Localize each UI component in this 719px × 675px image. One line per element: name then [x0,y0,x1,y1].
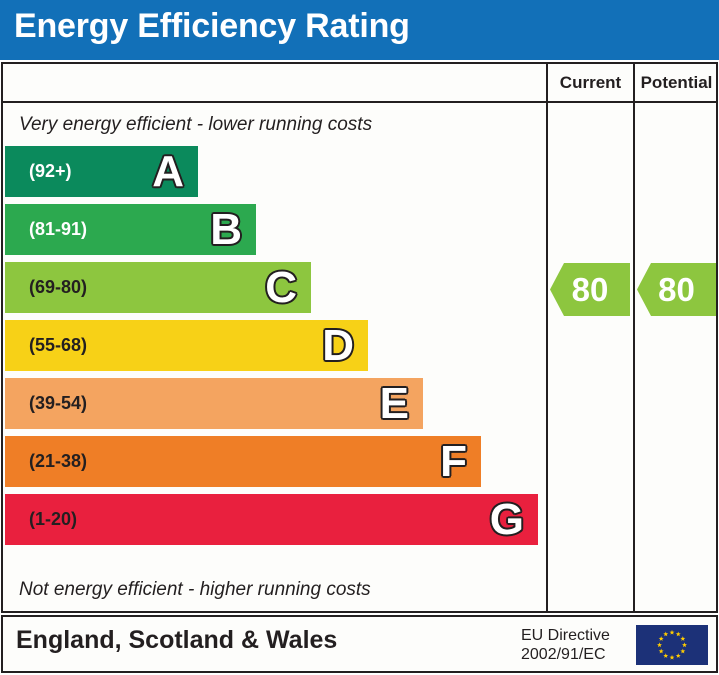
chart-footer: England, Scotland & Wales EU Directive 2… [1,615,718,673]
potential-score-arrow: 80 [637,263,716,316]
band-bar-d: (55-68)D [5,320,368,371]
band-letter-d: D [322,324,354,368]
band-letter-f: F [440,440,467,484]
column-header-potential: Potential [635,64,718,101]
band-bar-c: (69-80)C [5,262,311,313]
caption-inefficient: Not energy efficient - higher running co… [19,579,371,601]
footer-region-label: England, Scotland & Wales [16,626,337,655]
eu-flag-icon [636,625,708,665]
band-bar-b: (81-91)B [5,204,256,255]
directive-line-2: 2002/91/EC [521,645,610,664]
band-bar-e: (39-54)E [5,378,423,429]
caption-efficient: Very energy efficient - lower running co… [19,114,372,136]
band-range-g: (1-20) [29,509,77,530]
footer-directive: EU Directive 2002/91/EC [521,626,610,664]
band-range-c: (69-80) [29,277,87,298]
band-range-a: (92+) [29,161,72,182]
band-range-f: (21-38) [29,451,87,472]
band-area: Very energy efficient - lower running co… [3,103,546,611]
band-letter-a: A [152,150,184,194]
rating-table: Current Potential Very energy efficient … [1,62,718,613]
band-range-e: (39-54) [29,393,87,414]
band-range-d: (55-68) [29,335,87,356]
column-divider-current [546,64,548,611]
page-title: Energy Efficiency Rating [14,7,410,46]
band-letter-c: C [265,266,297,310]
band-range-b: (81-91) [29,219,87,240]
band-letter-g: G [490,498,524,542]
energy-efficiency-rating-chart: Energy Efficiency Rating Current Potenti… [0,0,719,675]
band-bar-a: (92+)A [5,146,198,197]
band-bar-g: (1-20)G [5,494,538,545]
column-header-current: Current [548,64,633,101]
chart-header: Energy Efficiency Rating [0,0,719,60]
directive-line-1: EU Directive [521,626,610,645]
current-score-arrow: 80 [550,263,630,316]
band-letter-b: B [210,208,242,252]
band-bar-f: (21-38)F [5,436,481,487]
band-letter-e: E [380,382,409,426]
column-divider-potential [633,64,635,611]
